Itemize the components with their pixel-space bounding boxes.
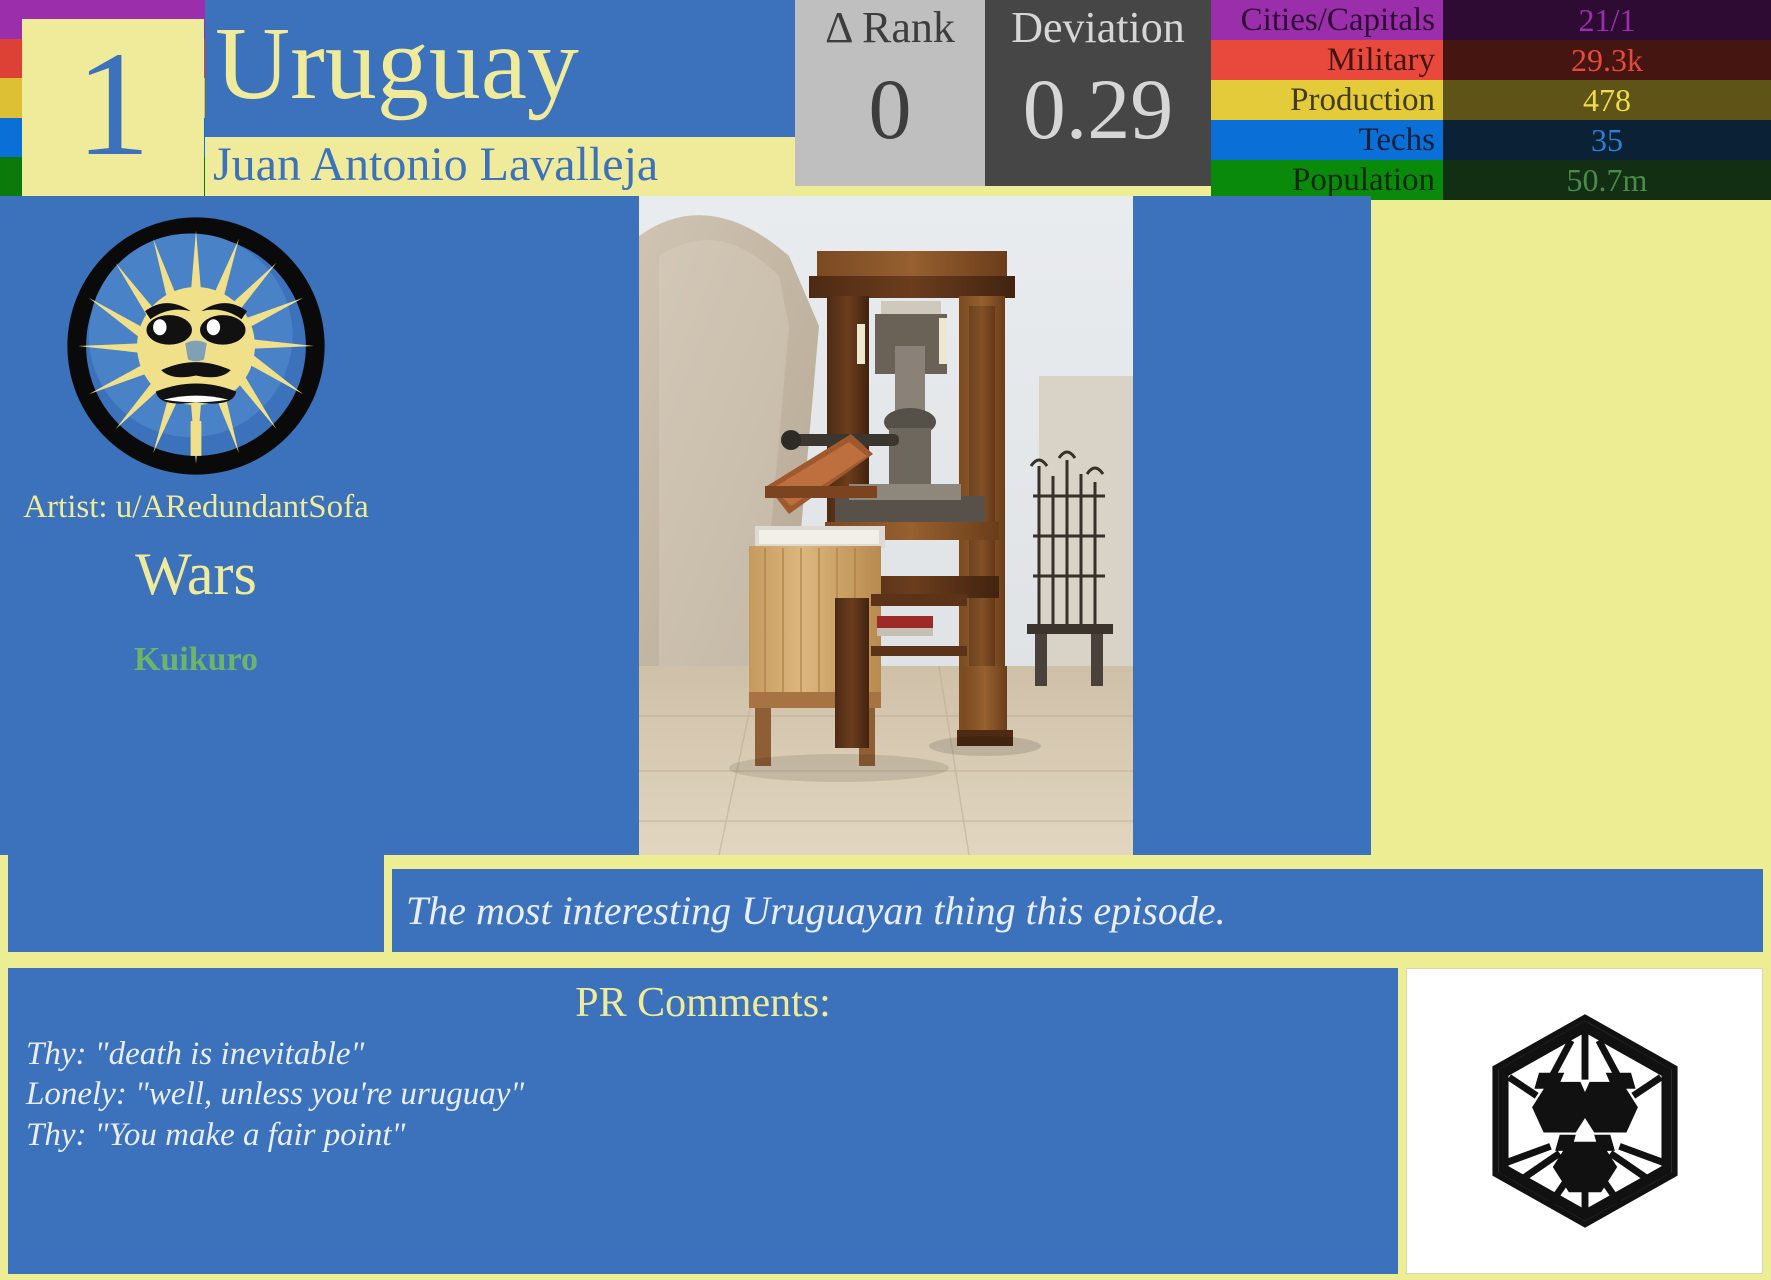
stat-label: Production <box>1211 80 1443 120</box>
caption-text: The most interesting Uruguayan thing thi… <box>392 891 1226 931</box>
stat-row: Population50.7m <box>1211 160 1771 200</box>
card-footer: PR Comments: Thy: "death is inevitable"L… <box>0 962 1771 1280</box>
pr-comment: Lonely: "well, unless you're uruguay" <box>26 1074 1380 1114</box>
stat-row: Cities/Capitals21/1 <box>1211 0 1771 40</box>
stats-table: Cities/Capitals21/1Military29.3kProducti… <box>1211 0 1771 200</box>
artist-credit: Artist: u/ARedundantSofa <box>8 491 384 524</box>
stat-value: 50.7m <box>1443 160 1771 200</box>
stat-label: Cities/Capitals <box>1211 0 1443 40</box>
feature-image <box>639 196 1133 855</box>
stat-row: Techs35 <box>1211 120 1771 160</box>
caption-panel: The most interesting Uruguayan thing thi… <box>392 869 1763 952</box>
card-body: Artist: u/ARedundantSofa Wars Kuikuro <box>0 196 1771 956</box>
stat-value: 35 <box>1443 120 1771 160</box>
wars-list-panel: Kuikuro <box>8 625 384 952</box>
country-rank-card: 1 Uruguay Juan Antonio Lavalleja Δ Rank … <box>0 0 1771 1280</box>
country-name: Uruguay <box>205 12 579 116</box>
stat-row: Military29.3k <box>1211 40 1771 80</box>
logo-panel <box>1406 968 1763 1274</box>
country-block: Uruguay Juan Antonio Lavalleja <box>205 0 795 196</box>
pr-comments-panel: PR Comments: Thy: "death is inevitable"L… <box>8 968 1398 1274</box>
delta-rank-label: Δ Rank <box>825 0 955 50</box>
stat-label: Military <box>1211 40 1443 80</box>
delta-rank-value: 0 <box>869 50 912 152</box>
pr-comment: Thy: "death is inevitable" <box>26 1034 1380 1074</box>
war-entry: Kuikuro <box>8 625 384 677</box>
rank-badge: 1 <box>22 19 204 196</box>
stat-label: Population <box>1211 160 1443 200</box>
stat-value: 478 <box>1443 80 1771 120</box>
stat-value: 29.3k <box>1443 40 1771 80</box>
stat-label: Techs <box>1211 120 1443 160</box>
deviation-label: Deviation <box>1011 0 1185 50</box>
rank-number: 1 <box>76 29 151 179</box>
pr-comment: Thy: "You make a fair point" <box>26 1115 1380 1155</box>
wars-title: Wars <box>135 544 257 604</box>
deviation-box: Deviation 0.29 <box>985 0 1211 186</box>
emblem-panel: Artist: u/ARedundantSofa <box>8 202 384 528</box>
country-name-banner: Uruguay <box>205 0 795 137</box>
delta-rank-box: Δ Rank 0 <box>795 0 985 186</box>
leader-name-banner: Juan Antonio Lavalleja <box>205 137 795 196</box>
leader-name: Juan Antonio Lavalleja <box>205 141 658 189</box>
card-header: 1 Uruguay Juan Antonio Lavalleja Δ Rank … <box>0 0 1771 196</box>
stat-row: Production478 <box>1211 80 1771 120</box>
pr-comments-list: Thy: "death is inevitable"Lonely: "well,… <box>26 1034 1380 1155</box>
stat-value: 21/1 <box>1443 0 1771 40</box>
hex-emblem-logo-icon <box>1470 1006 1700 1236</box>
wars-header-panel: Wars <box>8 537 384 617</box>
sun-of-may-emblem-icon <box>55 212 337 480</box>
deviation-value: 0.29 <box>1023 50 1174 152</box>
pr-comments-title: PR Comments: <box>26 982 1380 1024</box>
